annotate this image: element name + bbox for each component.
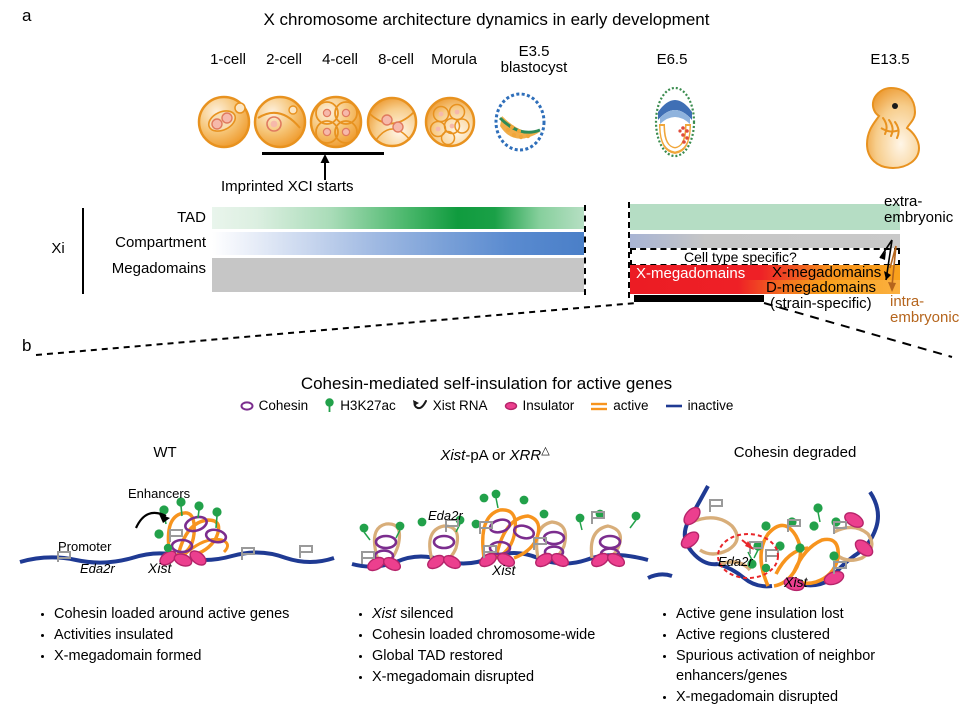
tad-bar-early [212,207,584,229]
panel-a-title: X chromosome architecture dynamics in ea… [0,10,973,30]
legend-item-insulator: Insulator [504,398,575,413]
xist-rna-hook-icon [412,399,428,412]
list-item: Activities insulated [54,625,338,645]
stage-label-e3-5-blastocyst: E3.5 blastocyst [490,44,578,76]
xi-axis-label: Xi [40,240,76,257]
legend-label-inactive: inactive [688,398,734,413]
list-item: X-megadomain disrupted [372,667,656,687]
legend-label-active: active [613,398,648,413]
e13-5-embryo-icon [867,88,919,168]
xist-pa-connector: -pA or [465,447,509,464]
blastocyst-icon [496,94,544,150]
list-item: Global TAD restored [372,646,656,666]
stage-label-morula: Morula [424,52,484,68]
list-item: X-megadomain formed [54,646,338,666]
two-cell-embryo-icon [255,97,305,147]
panel-b-letter: b [22,336,31,356]
list-item: Active regions clustered [676,625,950,645]
xi-axis-line [82,208,84,294]
list-item: Spurious activation of neighbor enhancer… [676,646,950,686]
wt-label-eda2r: Eda2r [80,561,115,576]
wt-label-promoter: Promoter [58,539,111,554]
stage-label-e3-5: E3.5 [490,44,578,60]
megadomain-bar-early [212,258,584,292]
subpanel-title-wt: WT [100,444,230,461]
xist-italic-1: Xist [440,447,465,464]
stage-label-1-cell: 1-cell [200,52,256,68]
imprinted-xci-arrow-icon [310,154,340,180]
wt-bullet-list: Cohesin loaded around active genes Activ… [38,604,338,667]
morula-icon [426,98,474,146]
insulator-oval-icon [504,400,518,412]
stage-label-blastocyst: blastocyst [490,60,578,76]
stage-label-8-cell: 8-cell [368,52,424,68]
inactive-line-icon [665,400,683,412]
embryo-stage-illustrations [196,88,936,158]
extra-embryonic-line1: extra- [884,194,953,210]
bullet-text-xist-silenced: Xist silenced [372,606,453,622]
legend-label-xist-rna: Xist RNA [433,398,488,413]
list-item: X-megadomain disrupted [676,687,950,707]
x-megadomains-inline-label: X-megadomains [636,265,745,282]
row-label-compartment: Compartment [100,234,206,251]
xrr-delta-superscript: △ [541,445,549,457]
list-item: Active gene insulation lost [676,604,950,624]
list-item: Xist RNAXist silenced [372,604,656,624]
figure-canvas: a X chromosome architecture dynamics in … [0,0,973,707]
four-cell-embryo-icon [311,97,361,147]
compartment-bar-early [212,232,584,255]
cohesin-degraded-label-eda2r: Eda2r [718,554,753,569]
stage-label-2-cell: 2-cell [256,52,312,68]
one-cell-embryo-icon [199,97,249,147]
legend-label-h3k27ac: H3K27ac [340,398,396,413]
h3k27ac-lollipop-icon [324,398,335,413]
list-item: Cohesin loaded chromosome-wide [372,625,656,645]
panel-b-legend: Cohesin H3K27ac Xist RNA Insulator [0,398,973,413]
legend-label-insulator: Insulator [523,398,575,413]
wt-label-enhancers: Enhancers [128,486,190,501]
xist-pa-label-xist: Xist [492,562,515,578]
legend-label-cohesin: Cohesin [259,398,309,413]
panel-b-title: Cohesin-mediated self-insulation for act… [0,374,973,394]
legend-item-h3k27ac: H3K27ac [324,398,396,413]
eight-cell-embryo-icon [368,98,416,146]
xist-pa-bullet-list: Xist RNAXist silenced Cohesin loaded chr… [356,604,656,688]
active-line-icon [590,400,608,412]
legend-item-inactive: inactive [665,398,734,413]
row-label-megadomains: Megadomains [90,260,206,277]
wt-label-xist: Xist [148,560,171,576]
list-item: Cohesin loaded around active genes [54,604,338,624]
stage-label-e13-5: E13.5 [855,52,925,68]
legend-item-active: active [590,398,648,413]
e6-5-embryo-icon [656,88,694,156]
xist-pa-label-eda2r: Eda2r [428,508,463,523]
cohesin-degraded-label-xist: Xist [784,574,807,590]
xrr-italic: XRR [510,447,542,464]
subpanel-title-cohesin-degraded: Cohesin degraded [700,444,890,461]
row-label-tad: TAD [100,209,206,226]
stage-label-4-cell: 4-cell [312,52,368,68]
cohesin-degraded-bullet-list: Active gene insulation lost Active regio… [660,604,950,708]
cohesin-ring-icon [240,400,254,412]
panel-connector-lines [0,295,973,375]
subpanel-title-xist-pa: Xist-pA or XRR△ [400,444,590,464]
legend-item-cohesin: Cohesin [240,398,309,413]
timeline-divider-blastocyst [584,205,586,295]
legend-item-xist-rna: Xist RNA [412,398,488,413]
imprinted-xci-note: Imprinted XCI starts [221,178,354,195]
celltype-specific-label: Cell type specific? [684,249,797,265]
stage-label-e6-5: E6.5 [640,52,704,68]
